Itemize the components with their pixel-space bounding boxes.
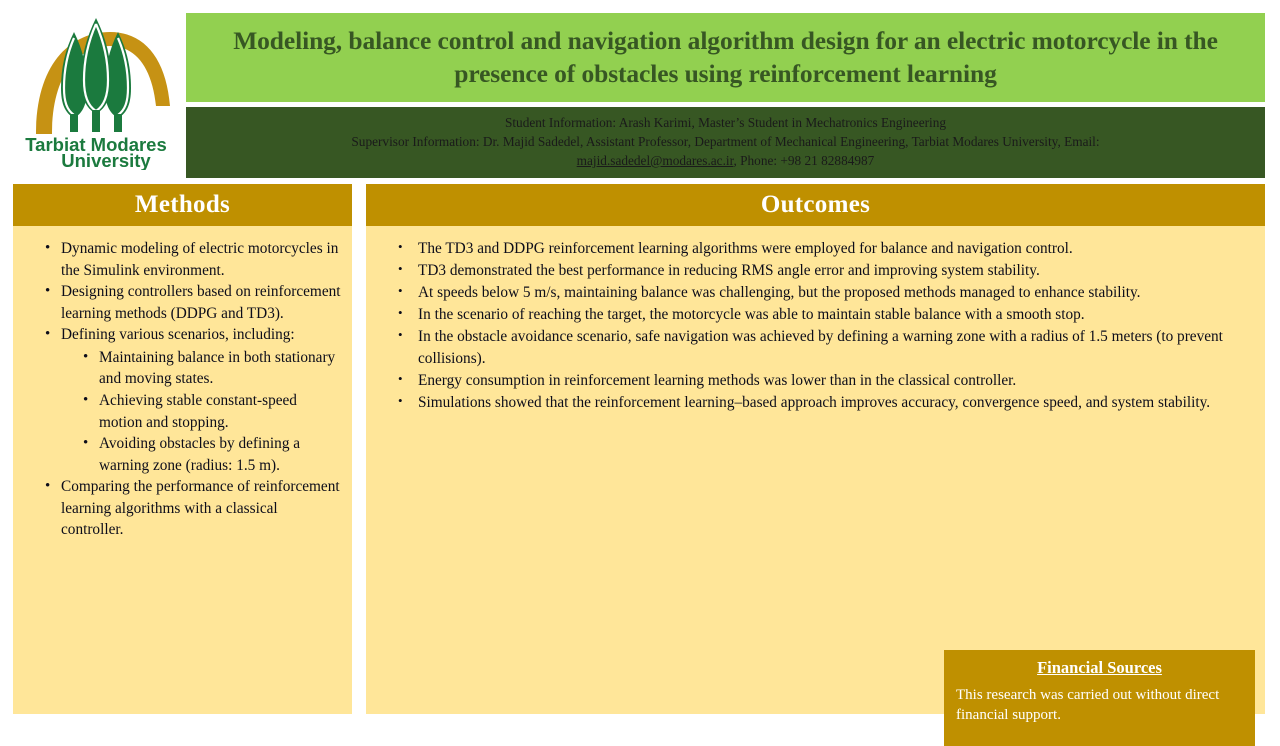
tarbiat-modares-university-logo-icon: Tarbiat Modares University xyxy=(12,10,180,170)
outcomes-header-label: Outcomes xyxy=(761,191,870,219)
list-item: • Designing controllers based on reinfor… xyxy=(23,281,342,324)
financial-sources-text: This research was carried out without di… xyxy=(956,686,1243,725)
list-item-text: Maintaining balance in both stationary a… xyxy=(99,347,342,390)
university-logo: Tarbiat Modares University xyxy=(10,6,182,174)
list-item-text: Dynamic modeling of electric motorcycles… xyxy=(61,238,342,281)
author-info-band: Student Information: Arash Karimi, Maste… xyxy=(186,107,1265,178)
poster-header: Tarbiat Modares University Modeling, bal… xyxy=(0,0,1280,178)
list-item: • TD3 demonstrated the best performance … xyxy=(376,260,1255,282)
outcomes-bullet-list: • The TD3 and DDPG reinforcement learnin… xyxy=(376,238,1255,414)
list-item-text: The TD3 and DDPG reinforcement learning … xyxy=(418,238,1255,260)
bullet-icon: • xyxy=(398,370,403,389)
list-item-text: In the scenario of reaching the target, … xyxy=(418,304,1255,326)
page-title: Modeling, balance control and navigation… xyxy=(204,25,1247,90)
contact-line: majid.sadedel@modares.ac.ir, Phone: +98 … xyxy=(196,152,1255,171)
list-item-text: Defining various scenarios, including: xyxy=(61,324,342,346)
supervisor-information: Supervisor Information: Dr. Majid Sadede… xyxy=(196,133,1255,152)
list-item: • In the obstacle avoidance scenario, sa… xyxy=(376,326,1255,370)
list-item: • Achieving stable constant-speed motion… xyxy=(61,390,342,433)
list-item-text: TD3 demonstrated the best performance in… xyxy=(418,260,1255,282)
bullet-icon: • xyxy=(45,476,50,497)
list-item-text: Comparing the performance of reinforceme… xyxy=(61,476,342,541)
bullet-icon: • xyxy=(83,347,88,368)
list-item-text: Energy consumption in reinforcement lear… xyxy=(418,370,1255,392)
list-item: • Energy consumption in reinforcement le… xyxy=(376,370,1255,392)
bullet-icon: • xyxy=(398,238,403,257)
bullet-icon: • xyxy=(83,390,88,411)
bullet-icon: • xyxy=(45,238,50,259)
list-item: • Defining various scenarios, including:… xyxy=(23,324,342,476)
bullet-icon: • xyxy=(45,324,50,345)
methods-body: • Dynamic modeling of electric motorcycl… xyxy=(13,226,352,714)
list-item: • Avoiding obstacles by defining a warni… xyxy=(61,433,342,476)
list-item-text: In the obstacle avoidance scenario, safe… xyxy=(418,326,1255,370)
bullet-icon: • xyxy=(45,281,50,302)
email-link[interactable]: majid.sadedel@modares.ac.ir xyxy=(577,153,734,168)
bullet-icon: • xyxy=(398,304,403,323)
bullet-icon: • xyxy=(398,392,403,411)
bullet-icon: • xyxy=(398,260,403,279)
list-item-text: Simulations showed that the reinforcemen… xyxy=(418,392,1255,414)
bullet-icon: • xyxy=(398,282,403,301)
financial-sources-title: Financial Sources xyxy=(956,658,1243,678)
outcomes-panel: Outcomes • The TD3 and DDPG reinforcemen… xyxy=(366,184,1265,714)
list-item-text: Achieving stable constant-speed motion a… xyxy=(99,390,342,433)
list-item: • Maintaining balance in both stationary… xyxy=(61,347,342,390)
list-item-text: At speeds below 5 m/s, maintaining balan… xyxy=(418,282,1255,304)
phone-text: , Phone: +98 21 82884987 xyxy=(733,153,874,168)
list-item: • Comparing the performance of reinforce… xyxy=(23,476,342,541)
list-item: • Dynamic modeling of electric motorcycl… xyxy=(23,238,342,281)
outcomes-header: Outcomes xyxy=(366,184,1265,226)
list-item: • At speeds below 5 m/s, maintaining bal… xyxy=(376,282,1255,304)
financial-sources-box: Financial Sources This research was carr… xyxy=(944,650,1255,746)
list-item: • The TD3 and DDPG reinforcement learnin… xyxy=(376,238,1255,260)
outcomes-body: • The TD3 and DDPG reinforcement learnin… xyxy=(366,226,1265,714)
bullet-icon: • xyxy=(83,433,88,454)
list-item: • In the scenario of reaching the target… xyxy=(376,304,1255,326)
logo-line-2: University xyxy=(61,150,151,170)
list-item-text: Avoiding obstacles by defining a warning… xyxy=(99,433,342,476)
list-item: • Simulations showed that the reinforcem… xyxy=(376,392,1255,414)
student-information: Student Information: Arash Karimi, Maste… xyxy=(196,114,1255,133)
list-item-text: Designing controllers based on reinforce… xyxy=(61,281,342,324)
methods-header: Methods xyxy=(13,184,352,226)
methods-bullet-list: • Dynamic modeling of electric motorcycl… xyxy=(23,238,342,541)
methods-sub-bullet-list: • Maintaining balance in both stationary… xyxy=(61,347,342,476)
poster-title-band: Modeling, balance control and navigation… xyxy=(186,13,1265,102)
bullet-icon: • xyxy=(398,326,403,345)
methods-header-label: Methods xyxy=(135,191,230,219)
methods-panel: Methods • Dynamic modeling of electric m… xyxy=(13,184,352,714)
